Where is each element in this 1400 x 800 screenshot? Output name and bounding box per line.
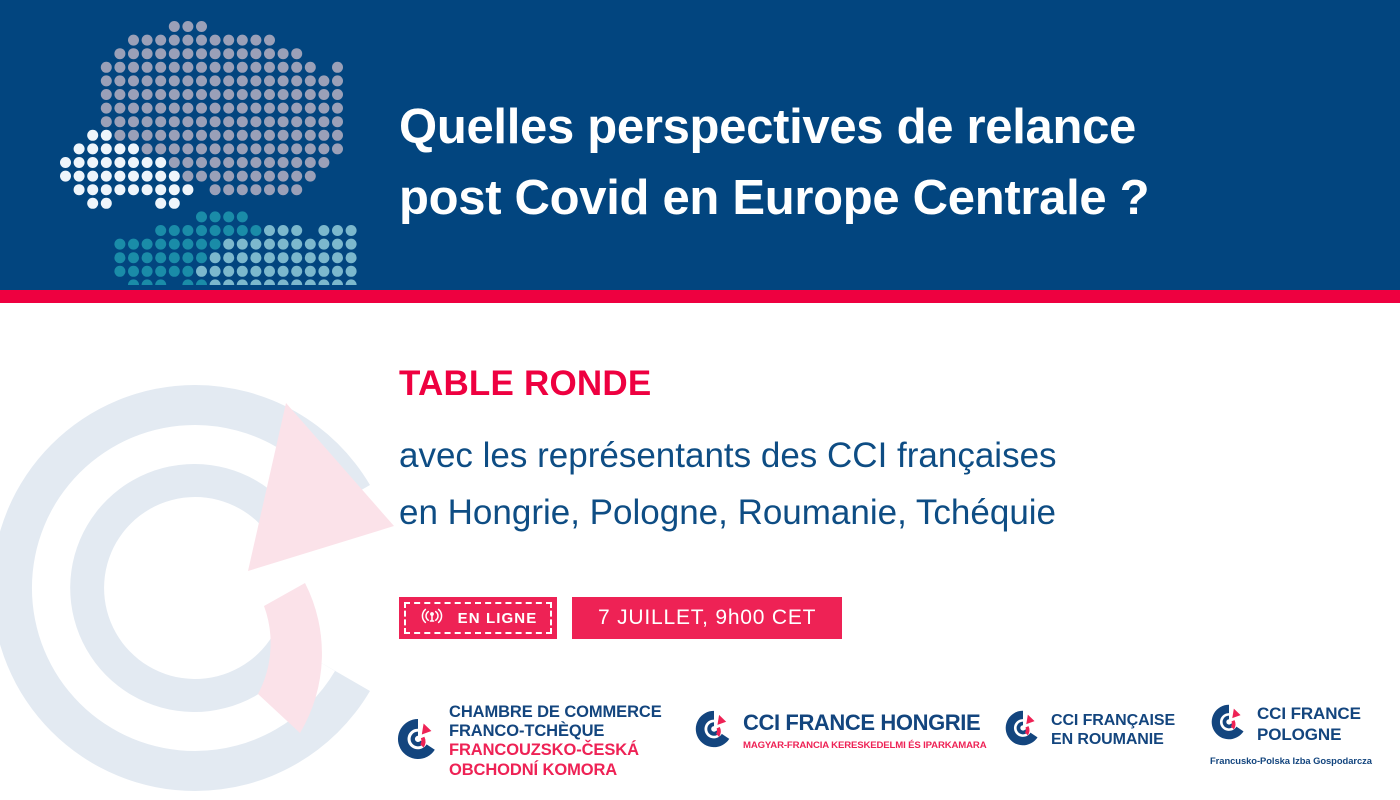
logo-primary-row: CCI FRANCE POLOGNE xyxy=(1210,703,1372,746)
section-kicker: TABLE RONDE xyxy=(399,364,651,404)
logo-line: OBCHODNÍ KOMORA xyxy=(449,761,617,779)
logo-line: CCI FRANCE HONGRIE xyxy=(743,710,980,735)
headline-line-2: post Covid en Europe Centrale ? xyxy=(399,163,1299,234)
section-subtitle: avec les représentants des CCI française… xyxy=(399,428,1057,541)
date-time-badge: 7 JUILLET, 9h00 CET xyxy=(572,597,842,639)
logo-text-block: CCI FRANCE HONGRIE MAGYAR-FRANCIA KERESK… xyxy=(743,710,986,753)
logo-line: FRANCO-TCHÈQUE xyxy=(449,722,604,740)
cci-logo-mark-icon xyxy=(694,709,734,754)
logo-line: POLOGNE xyxy=(1257,725,1341,744)
logo-line: MAGYAR-FRANCIA KERESKEDELMI ÉS IPARKAMAR… xyxy=(743,740,986,751)
headline-line-1: Quelles perspectives de relance xyxy=(399,92,1299,163)
logo-stack: CCI FRANCE POLOGNE Francusko-Polska Izba… xyxy=(1210,703,1372,766)
event-announcement-banner: Quelles perspectives de relance post Cov… xyxy=(0,0,1400,800)
banner-header: Quelles perspectives de relance post Cov… xyxy=(0,0,1400,290)
cci-logo-mark-icon xyxy=(396,717,440,766)
online-badge-label: EN LIGNE xyxy=(458,610,538,627)
subtitle-line-1: avec les représentants des CCI française… xyxy=(399,428,1057,485)
online-format-badge: EN LIGNE xyxy=(399,597,557,639)
logo-subtitle: Francusko-Polska Izba Gospodarcza xyxy=(1210,755,1372,766)
partner-logo-row: CHAMBRE DE COMMERCE FRANCO-TCHÈQUE FRANC… xyxy=(396,697,1396,782)
logo-text-block: CCI FRANCE POLOGNE xyxy=(1257,704,1361,744)
logo-cci-france-pologne: CCI FRANCE POLOGNE Francusko-Polska Izba… xyxy=(1210,703,1372,766)
logo-line: CCI FRANÇAISE xyxy=(1051,712,1175,729)
logo-cci-francaise-en-roumanie: CCI FRANÇAISE EN ROUMANIE xyxy=(1004,709,1175,752)
page-title: Quelles perspectives de relance post Cov… xyxy=(399,92,1299,234)
cci-logo-mark-icon xyxy=(1210,703,1248,746)
logo-line: EN ROUMANIE xyxy=(1051,731,1164,748)
cci-logo-watermark-icon xyxy=(0,378,410,800)
cci-logo-mark-icon xyxy=(1004,709,1042,752)
subtitle-line-2: en Hongrie, Pologne, Roumanie, Tchéquie xyxy=(399,485,1057,542)
logo-cci-franco-tcheque: CHAMBRE DE COMMERCE FRANCO-TCHÈQUE FRANC… xyxy=(396,703,662,780)
logo-line: FRANCOUZSKO-ČESKÁ xyxy=(449,741,639,759)
broadcast-signal-icon xyxy=(419,608,445,628)
logo-line: CHAMBRE DE COMMERCE xyxy=(449,703,662,721)
logo-cci-france-hongrie: CCI FRANCE HONGRIE MAGYAR-FRANCIA KERESK… xyxy=(694,709,986,754)
badge-row: EN LIGNE 7 JUILLET, 9h00 CET xyxy=(399,597,842,639)
logo-text-block: CHAMBRE DE COMMERCE FRANCO-TCHÈQUE FRANC… xyxy=(449,703,662,780)
logo-line: CCI FRANCE xyxy=(1257,704,1361,723)
logo-text-block: CCI FRANÇAISE EN ROUMANIE xyxy=(1051,712,1175,748)
accent-divider-bar xyxy=(0,290,1400,303)
dotted-central-europe-map-icon xyxy=(55,15,365,285)
